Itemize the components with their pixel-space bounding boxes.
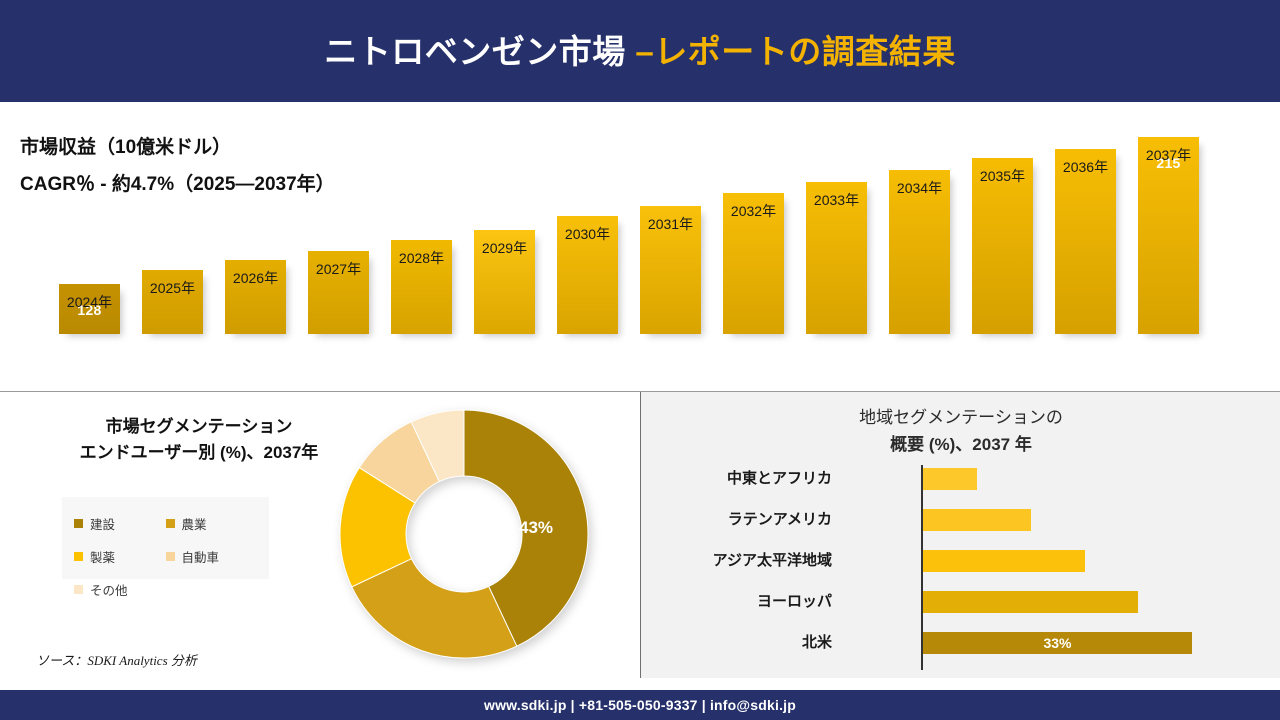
region-label: ラテンアメリカ bbox=[632, 509, 832, 531]
bar-column: 2035年 bbox=[972, 158, 1033, 334]
bar-category-label: 2030年 bbox=[546, 224, 629, 244]
bar-column: 2031年 bbox=[640, 206, 701, 334]
page-footer: www.sdki.jp | +81-505-050-9337 | info@sd… bbox=[0, 690, 1280, 720]
donut-chart-title: 市場セグメンテーション エンドユーザー別 (%)、2037年 bbox=[34, 414, 364, 467]
legend-label: 製薬 bbox=[90, 547, 115, 566]
region-bar-value-label: 33% bbox=[923, 632, 1192, 654]
legend-row: 製薬自動車 bbox=[74, 540, 257, 573]
donut-title-line1: 市場セグメンテーション bbox=[106, 417, 293, 436]
bar-column: 2028年 bbox=[391, 240, 452, 334]
market-revenue-bar-chart: 1282024年2025年2026年2027年2028年2029年2030年20… bbox=[0, 102, 1280, 392]
region-bar bbox=[923, 591, 1138, 613]
region-row: 北米33% bbox=[641, 632, 1201, 654]
region-row: ヨーロッパ bbox=[641, 591, 1201, 613]
legend-item: 農業 bbox=[166, 514, 258, 533]
donut-chart-wrap: 43% bbox=[333, 408, 595, 660]
bar-category-label: 2032年 bbox=[712, 201, 795, 221]
bar-category-label: 2033年 bbox=[795, 190, 878, 210]
bar-column: 2152037年 bbox=[1138, 137, 1199, 334]
legend-swatch-icon bbox=[74, 519, 83, 528]
legend-swatch-icon bbox=[166, 552, 175, 561]
region-bar bbox=[923, 509, 1031, 531]
bar-column: 2027年 bbox=[308, 251, 369, 334]
legend-label: 自動車 bbox=[182, 547, 220, 566]
bar-column: 2029年 bbox=[474, 230, 535, 334]
bar-category-label: 2025年 bbox=[131, 278, 214, 298]
bar-category-label: 2028年 bbox=[380, 248, 463, 268]
donut-legend: 建設農業製薬自動車その他 bbox=[62, 497, 269, 579]
region-label: アジア太平洋地域 bbox=[632, 550, 832, 572]
legend-item: 製薬 bbox=[74, 547, 166, 566]
legend-row: 建設農業 bbox=[74, 507, 257, 540]
region-row: アジア太平洋地域 bbox=[641, 550, 1201, 572]
bar-column: 1282024年 bbox=[59, 284, 120, 334]
revenue-bar: 215 bbox=[1138, 137, 1199, 334]
bar-category-label: 2024年 bbox=[48, 292, 131, 312]
page-title: ニトロベンゼン市場 –レポートの調査結果 bbox=[324, 35, 956, 68]
region-label: 北米 bbox=[632, 632, 832, 654]
region-title-line1: 地域セグメンテーションの bbox=[859, 408, 1063, 427]
bar-category-label: 2035年 bbox=[961, 166, 1044, 186]
bar-column: 2033年 bbox=[806, 182, 867, 334]
region-title-line2: 概要 (%)、2037 年 bbox=[890, 435, 1032, 454]
donut-title-line2: エンドユーザー別 (%)、2037年 bbox=[80, 443, 319, 462]
footer-contact-text: www.sdki.jp | +81-505-050-9337 | info@sd… bbox=[484, 697, 796, 713]
source-attribution: ソース：SDKI Analytics 分析 bbox=[36, 650, 197, 669]
bar-category-label: 2036年 bbox=[1044, 157, 1127, 177]
regional-segmentation-panel: 地域セグメンテーションの 概要 (%)、2037 年 中東とアフリカラテンアメリ… bbox=[641, 392, 1280, 678]
bar-column: 2026年 bbox=[225, 260, 286, 334]
region-row: ラテンアメリカ bbox=[641, 509, 1201, 531]
legend-label: その他 bbox=[90, 580, 128, 599]
region-bar bbox=[923, 468, 977, 490]
legend-row: その他 bbox=[74, 573, 257, 606]
page-title-accent: –レポートの調査結果 bbox=[635, 33, 955, 70]
legend-swatch-icon bbox=[74, 552, 83, 561]
bar-column: 2036年 bbox=[1055, 149, 1116, 334]
market-revenue-section: 市場収益（10億米ドル） CAGR％ - 約4.7%（2025—2037年） 1… bbox=[0, 102, 1280, 392]
bar-category-label: 2026年 bbox=[214, 268, 297, 288]
region-bar: 33% bbox=[923, 632, 1192, 654]
region-chart-title: 地域セグメンテーションの 概要 (%)、2037 年 bbox=[761, 404, 1161, 458]
bar-category-label: 2031年 bbox=[629, 214, 712, 234]
legend-swatch-icon bbox=[166, 519, 175, 528]
legend-swatch-icon bbox=[74, 585, 83, 594]
legend-label: 建設 bbox=[90, 514, 115, 533]
page-header: ニトロベンゼン市場 –レポートの調査結果 bbox=[0, 0, 1280, 102]
bar-category-label: 2037年 bbox=[1127, 145, 1210, 165]
donut-highlight-value: 43% bbox=[501, 518, 571, 538]
bar-category-label: 2027年 bbox=[297, 259, 380, 279]
legend-item: その他 bbox=[74, 580, 257, 599]
bar-column: 2034年 bbox=[889, 170, 950, 334]
region-label: ヨーロッパ bbox=[632, 591, 832, 613]
bar-category-label: 2034年 bbox=[878, 178, 961, 198]
legend-item: 建設 bbox=[74, 514, 166, 533]
bar-category-label: 2029年 bbox=[463, 238, 546, 258]
region-label: 中東とアフリカ bbox=[632, 468, 832, 490]
region-row: 中東とアフリカ bbox=[641, 468, 1201, 490]
bar-column: 2032年 bbox=[723, 193, 784, 334]
infographic-page: ニトロベンゼン市場 –レポートの調査結果 市場収益（10億米ドル） CAGR％ … bbox=[0, 0, 1280, 720]
legend-label: 農業 bbox=[182, 514, 207, 533]
bar-column: 2030年 bbox=[557, 216, 618, 334]
bar-column: 2025年 bbox=[142, 270, 203, 334]
end-user-segmentation-panel: 市場セグメンテーション エンドユーザー別 (%)、2037年 建設農業製薬自動車… bbox=[0, 392, 640, 678]
region-bar bbox=[923, 550, 1085, 572]
legend-item: 自動車 bbox=[166, 547, 258, 566]
page-title-main: ニトロベンゼン市場 bbox=[324, 33, 635, 70]
